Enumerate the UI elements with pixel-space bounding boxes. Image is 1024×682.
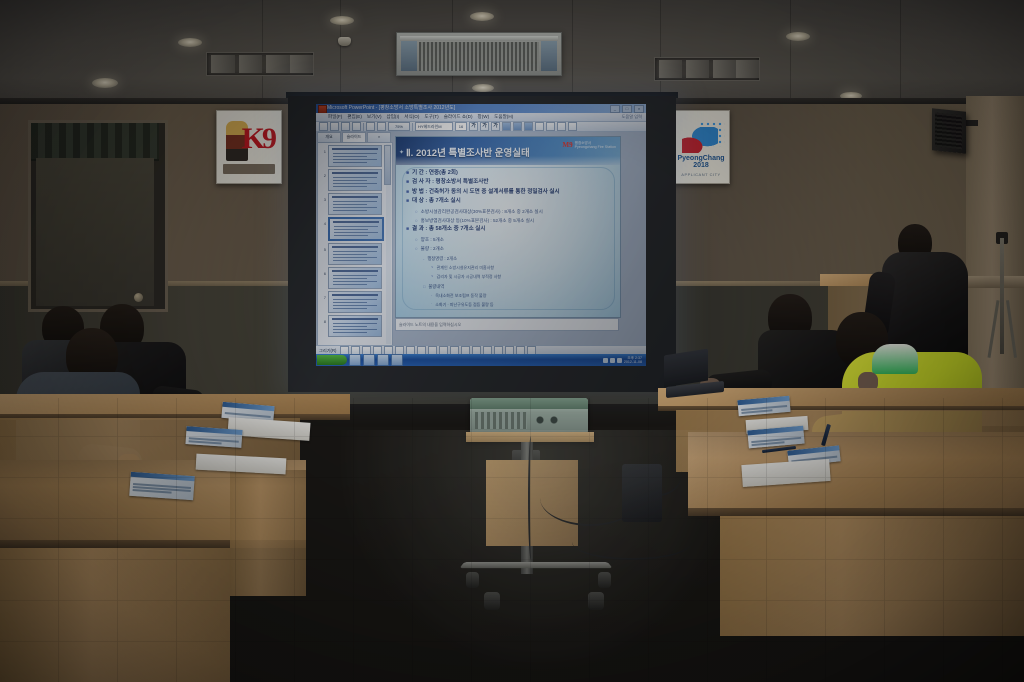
font-name-box[interactable]: HY헤드라인M	[415, 122, 453, 131]
menu-bar[interactable]: 파일(F) 편집(E) 보기(V) 삽입(I) 서식(O) 도구(T) 슬라이드…	[316, 113, 646, 122]
italic-button[interactable]: 가	[480, 122, 489, 131]
slide-thumbnail[interactable]	[328, 315, 382, 337]
bullet-text: 옥내소화전 보조펌프 동작 불량	[435, 292, 486, 299]
speaker-mount	[964, 120, 978, 126]
thumbnail-title-bar	[332, 270, 378, 272]
bullet-text: 방 법 : 건축허가 동의 시 도면 중 설계서류를 통한 정밀검사 실시	[412, 189, 560, 196]
slide-bullet: ■방 법 : 건축허가 동의 시 도면 중 설계서류를 통한 정밀검사 실시	[406, 189, 612, 196]
align-left-button[interactable]	[502, 122, 511, 131]
logo-mark: M9	[563, 141, 573, 149]
design-button[interactable]	[568, 122, 577, 131]
system-tray[interactable]: 오후 2:37 2012-11-08	[603, 356, 646, 364]
thumbnail-text-line	[333, 153, 377, 154]
taskbar-powerpoint-icon[interactable]	[391, 354, 403, 366]
notes-pane[interactable]: 슬라이드 노트의 내용을 입력하십시오	[395, 318, 619, 331]
formatting-toolbar[interactable]: 75% HY헤드라인M 16 가 가 가	[316, 122, 646, 132]
powerpoint-app-icon	[318, 105, 327, 113]
thumbnail-title-bar	[332, 294, 378, 296]
menu-item-view[interactable]: 보기(V)	[367, 114, 382, 120]
tab-slides[interactable]: 슬라이드	[342, 132, 366, 142]
bullet-text: 결 과 : 총 58개소 중 7개소 실시	[412, 226, 486, 233]
ceiling-air-conditioner	[396, 32, 562, 76]
logo-text-en: Pyeongchang Fire Station	[575, 145, 616, 149]
slide-thumbnail-row[interactable]: 1	[318, 143, 392, 167]
slide-thumbnail-row[interactable]: 4	[318, 215, 392, 241]
wall-speaker	[932, 108, 966, 154]
slide-thumbnail-row[interactable]: 3	[318, 191, 392, 215]
speaker-grille-icon	[935, 113, 962, 150]
bullet-marker-icon: -	[431, 292, 432, 299]
door-knob-icon[interactable]	[134, 293, 143, 302]
bullet-text: 감리자 및 시공자 시공내역 부적정 사항	[437, 273, 501, 280]
minimize-button[interactable]: _	[610, 105, 620, 113]
thumbnail-text-line	[334, 235, 368, 236]
bullet-text: 검 사 자 : 평창소방서 특별조사반	[412, 179, 489, 186]
thumbnail-text-line	[333, 308, 367, 309]
poster-swoosh-icon	[682, 127, 718, 153]
thumbnail-text-line	[333, 254, 367, 255]
menu-item-file[interactable]: 파일(F)	[328, 114, 342, 120]
thumbnail-number: 6	[320, 267, 326, 276]
bullet-marker-icon: ■	[406, 198, 409, 205]
thumbnail-number: 7	[320, 291, 326, 300]
thumbnail-text-line	[334, 229, 368, 230]
thumbnail-text-line	[333, 156, 367, 157]
taskbar-browser-icon[interactable]	[349, 354, 361, 366]
poster-subtitle: APPLICANT CITY	[673, 172, 729, 177]
slide-bullet: ○양호 : 5개소	[415, 236, 612, 243]
fire-station-logo: M9 평창소방서 Pyeongchang Fire Station	[563, 140, 616, 149]
thumbnail-text-line	[333, 299, 377, 300]
slide-bullet: -옥내소화전 보조펌프 동작 불량	[431, 292, 612, 299]
thumbnail-text-line	[333, 201, 377, 202]
active-slide[interactable]: M9 평창소방서 Pyeongchang Fire Station ✦ Ⅱ. 2…	[395, 136, 621, 318]
thumbnail-number: 3	[320, 193, 326, 202]
bullets-button[interactable]	[535, 122, 544, 131]
thumbnail-number: 5	[320, 243, 326, 252]
thumbnail-text-line	[333, 275, 377, 276]
thumbnail-text-line	[333, 183, 377, 184]
slide-bullet-list: ■기 간 : 연중(총 2회)■검 사 자 : 평창소방서 특별조사반■방 법 …	[406, 170, 612, 307]
menu-item-format[interactable]: 서식(O)	[404, 114, 419, 120]
bullet-marker-icon: ○	[415, 245, 418, 252]
menu-item-insert[interactable]: 삽입(I)	[386, 114, 399, 120]
align-center-button[interactable]	[513, 122, 522, 131]
copy-icon[interactable]	[377, 122, 386, 131]
bullet-marker-icon: ■	[406, 170, 409, 177]
panel-tabs[interactable]: 개요 슬라이드 ×	[317, 132, 391, 142]
bullet-marker-icon: ■	[406, 179, 409, 186]
thumbnail-title-bar	[332, 172, 378, 174]
thumbnail-text-line	[333, 284, 367, 285]
bullet-text: 불량내역	[428, 283, 444, 290]
meeting-room-photo: K9 PyeongChang 2018 APPLICANT CITY Micro…	[0, 0, 1024, 682]
maximize-button[interactable]: □	[622, 105, 632, 113]
thumbnail-text-line	[334, 232, 378, 233]
bullet-text: 불량 : 2개소	[421, 245, 444, 252]
slide-thumbnail[interactable]	[328, 291, 382, 313]
thumbnail-number: 1	[320, 145, 326, 154]
poster-mark: K9	[242, 125, 274, 153]
bullet-text: 기 간 : 연중(총 2회)	[412, 170, 458, 177]
slide-thumbnail-row[interactable]: 5	[318, 241, 392, 265]
slide-bullet: ○홍보방염검사대상 등(10%표본검사) : 52개소 중 5개소 실시	[415, 217, 612, 224]
bullet-marker-icon: ■	[406, 226, 409, 233]
thumbnail-text-line	[333, 302, 367, 303]
powerpoint-window[interactable]: Microsoft PowerPoint - [평창소방서 소방특별조사 201…	[316, 104, 646, 366]
poster-caption	[223, 164, 275, 174]
bullet-marker-icon: ○	[415, 208, 418, 215]
thumbnail-text-line	[333, 281, 377, 282]
smoke-detector-icon	[338, 37, 351, 46]
zoom-level[interactable]: 75%	[388, 122, 410, 131]
menu-item-slideshow[interactable]: 슬라이드 쇼(D)	[444, 114, 473, 120]
slide-thumbnail-row[interactable]: 8	[318, 313, 392, 337]
thumbnail-text-line	[334, 226, 378, 227]
slide-thumbnail[interactable]	[328, 193, 382, 215]
ceiling-downlight	[92, 78, 118, 88]
slide-bullet: ■검 사 자 : 평창소방서 특별조사반	[406, 179, 612, 186]
slide-bullet: -행정명령 : 2개소	[423, 255, 612, 262]
font-color-button[interactable]	[557, 122, 566, 131]
pyeongchang-2018-poster: PyeongChang 2018 APPLICANT CITY	[672, 110, 730, 184]
slide-thumbnail[interactable]	[328, 169, 382, 191]
bullet-marker-icon: -	[423, 255, 424, 262]
bullet-marker-icon: ■	[406, 189, 409, 196]
new-icon[interactable]	[319, 122, 328, 131]
thumbnail-text-line	[333, 210, 367, 211]
curtain-valance	[31, 123, 159, 161]
ceiling-downlight	[330, 16, 354, 25]
slide-bullet: ■대 상 : 총 7개소 실시	[406, 198, 612, 205]
slide-thumbnail[interactable]	[328, 243, 382, 265]
drawing-menu-label[interactable]: 그리기(R)	[319, 348, 336, 354]
tab-close[interactable]: ×	[367, 132, 391, 142]
slide-bullet: ■결 과 : 총 58개소 중 7개소 실시	[406, 226, 612, 233]
slide-bullet: □불량내역	[423, 283, 612, 290]
slide-thumbnail-row[interactable]: 6	[318, 265, 392, 289]
thumbnail-text-line	[333, 278, 367, 279]
help-search-box[interactable]: 도움말 입력	[622, 114, 642, 120]
cut-icon[interactable]	[366, 122, 375, 131]
thumbnail-text-line	[333, 251, 377, 252]
bold-button[interactable]: 가	[469, 122, 478, 131]
thumbnail-title-bar	[332, 148, 378, 150]
ceiling-vent	[654, 57, 760, 81]
print-icon[interactable]	[352, 122, 361, 131]
thumbnail-text-line	[333, 180, 367, 181]
titlebar-text: Microsoft PowerPoint - [평창소방서 소방특별조사 201…	[327, 105, 455, 111]
save-icon[interactable]	[341, 122, 350, 131]
thumbnail-text-line	[333, 207, 377, 208]
thumbnail-text-line	[333, 159, 377, 160]
slide-bullet: ∨관계인 소방시설유지관리 미흡사항	[431, 264, 612, 271]
thumbnail-text-line	[333, 204, 367, 205]
clock-date: 2012-11-08	[624, 360, 644, 364]
thumbnail-title-bar	[332, 246, 378, 248]
toolbar-separator	[363, 123, 364, 131]
ceiling-downlight	[470, 12, 494, 21]
menu-item-help[interactable]: 도움말(H)	[494, 114, 513, 120]
bullet-text: 행정명령 : 2개소	[427, 255, 457, 262]
bullet-text: 대 상 : 총 7개소 실시	[412, 198, 461, 205]
thumbnail-text-line	[333, 186, 367, 187]
slide-bullet: ∨감리자 및 시공자 시공내역 부적정 사항	[431, 273, 612, 280]
poster-title: PyeongChang 2018	[673, 155, 729, 169]
thumbnail-text-line	[333, 162, 367, 163]
thumbnail-scroll-thumb[interactable]	[384, 145, 391, 185]
toolbar-separator	[412, 123, 413, 131]
align-right-button[interactable]	[524, 122, 533, 131]
slide-bullet: ○소방시설감리완공검사대상(30%표본검사) : 8개소 중 2개소 실시	[415, 208, 612, 215]
bullet-marker-icon: □	[423, 283, 425, 290]
tray-icon[interactable]	[617, 358, 622, 363]
k9-fire-mascot-poster: K9	[216, 110, 282, 184]
jacket-collar	[872, 344, 918, 374]
thumbnail-text-line	[333, 257, 377, 258]
ceiling-downlight	[786, 32, 810, 41]
slide-thumbnail[interactable]	[328, 145, 382, 167]
slide-thumbnail[interactable]	[328, 217, 384, 241]
thumbnail-text-line	[333, 323, 377, 324]
ceiling-downlight	[178, 38, 202, 47]
tray-icon[interactable]	[610, 358, 615, 363]
thumbnail-title-bar	[332, 318, 378, 320]
slide-bullet: ○불량 : 2개소	[415, 245, 612, 252]
close-button[interactable]: ×	[634, 105, 644, 113]
slide-title: Ⅱ. 2012년 특별조사반 운영실태	[406, 145, 530, 159]
thumbnail-number: 8	[320, 315, 326, 324]
thumbnail-text-line	[333, 332, 367, 333]
start-button[interactable]	[317, 355, 347, 365]
open-icon[interactable]	[330, 122, 339, 131]
ceiling-vent	[206, 52, 314, 76]
editor-body: 개요 슬라이드 × 12345678 M9 평창소방서 Pyeongchang …	[316, 132, 646, 345]
font-size-box[interactable]: 16	[455, 122, 467, 131]
thumbnail-text-line	[333, 326, 367, 327]
taskbar-media-icon[interactable]	[377, 354, 389, 366]
slide-thumbnail-row[interactable]: 7	[318, 289, 392, 313]
bullet-text: 홍보방염검사대상 등(10%표본검사) : 52개소 중 5개소 실시	[421, 217, 534, 224]
pillar-cap	[966, 276, 1024, 288]
slide-bullet: ·소화기 · 피난구유도등 점등 불량 등	[431, 301, 612, 308]
menu-item-tools[interactable]: 도구(T)	[424, 114, 438, 120]
slide-thumbnail-row[interactable]: 2	[318, 167, 392, 191]
title-bullet-icon: ✦	[399, 149, 404, 156]
taskbar-folder-icon[interactable]	[363, 354, 375, 366]
tray-icon[interactable]	[603, 358, 608, 363]
menu-item-window[interactable]: 창(W)	[478, 114, 490, 120]
slide-bullet: ■기 간 : 연중(총 2회)	[406, 170, 612, 177]
windows-taskbar[interactable]: 오후 2:37 2012-11-08	[316, 354, 646, 366]
thumbnail-text-line	[333, 260, 367, 261]
thumbnail-title-bar	[333, 221, 379, 223]
bullet-marker-icon: ∨	[431, 273, 434, 280]
slide-thumbnail-pane[interactable]: 12345678	[317, 142, 393, 346]
thumbnail-text-line	[333, 177, 377, 178]
powerpoint-titlebar: Microsoft PowerPoint - [평창소방서 소방특별조사 201…	[316, 104, 646, 113]
menu-item-edit[interactable]: 편집(E)	[347, 114, 362, 120]
slide-thumbnail[interactable]	[328, 267, 382, 289]
room-door[interactable]	[36, 158, 154, 306]
thumbnail-number: 4	[320, 217, 326, 226]
bullet-text: 양호 : 5개소	[421, 236, 444, 243]
bullet-text: 관계인 소방시설유지관리 미흡사항	[437, 264, 494, 271]
bullet-text: 소방시설감리완공검사대상(30%표본검사) : 8개소 중 2개소 실시	[421, 208, 543, 215]
ceiling-downlight	[472, 84, 494, 92]
bullet-marker-icon: ∨	[431, 264, 434, 271]
thumbnail-text-line	[333, 305, 377, 306]
thumbnail-text-line	[333, 329, 377, 330]
bullet-marker-icon: ○	[415, 236, 418, 243]
thumbnail-number: 2	[320, 169, 326, 178]
tab-outline[interactable]: 개요	[317, 132, 341, 142]
bullet-marker-icon: ·	[431, 301, 432, 308]
thumbnail-title-bar	[332, 196, 378, 198]
tripod-pole	[1000, 238, 1004, 354]
underline-button[interactable]: 가	[491, 122, 500, 131]
numbering-button[interactable]	[546, 122, 555, 131]
window-controls[interactable]: _ □ ×	[610, 105, 644, 113]
bullet-marker-icon: ○	[415, 217, 418, 224]
bullet-text: 소화기 · 피난구유도등 점등 불량 등	[435, 301, 493, 308]
